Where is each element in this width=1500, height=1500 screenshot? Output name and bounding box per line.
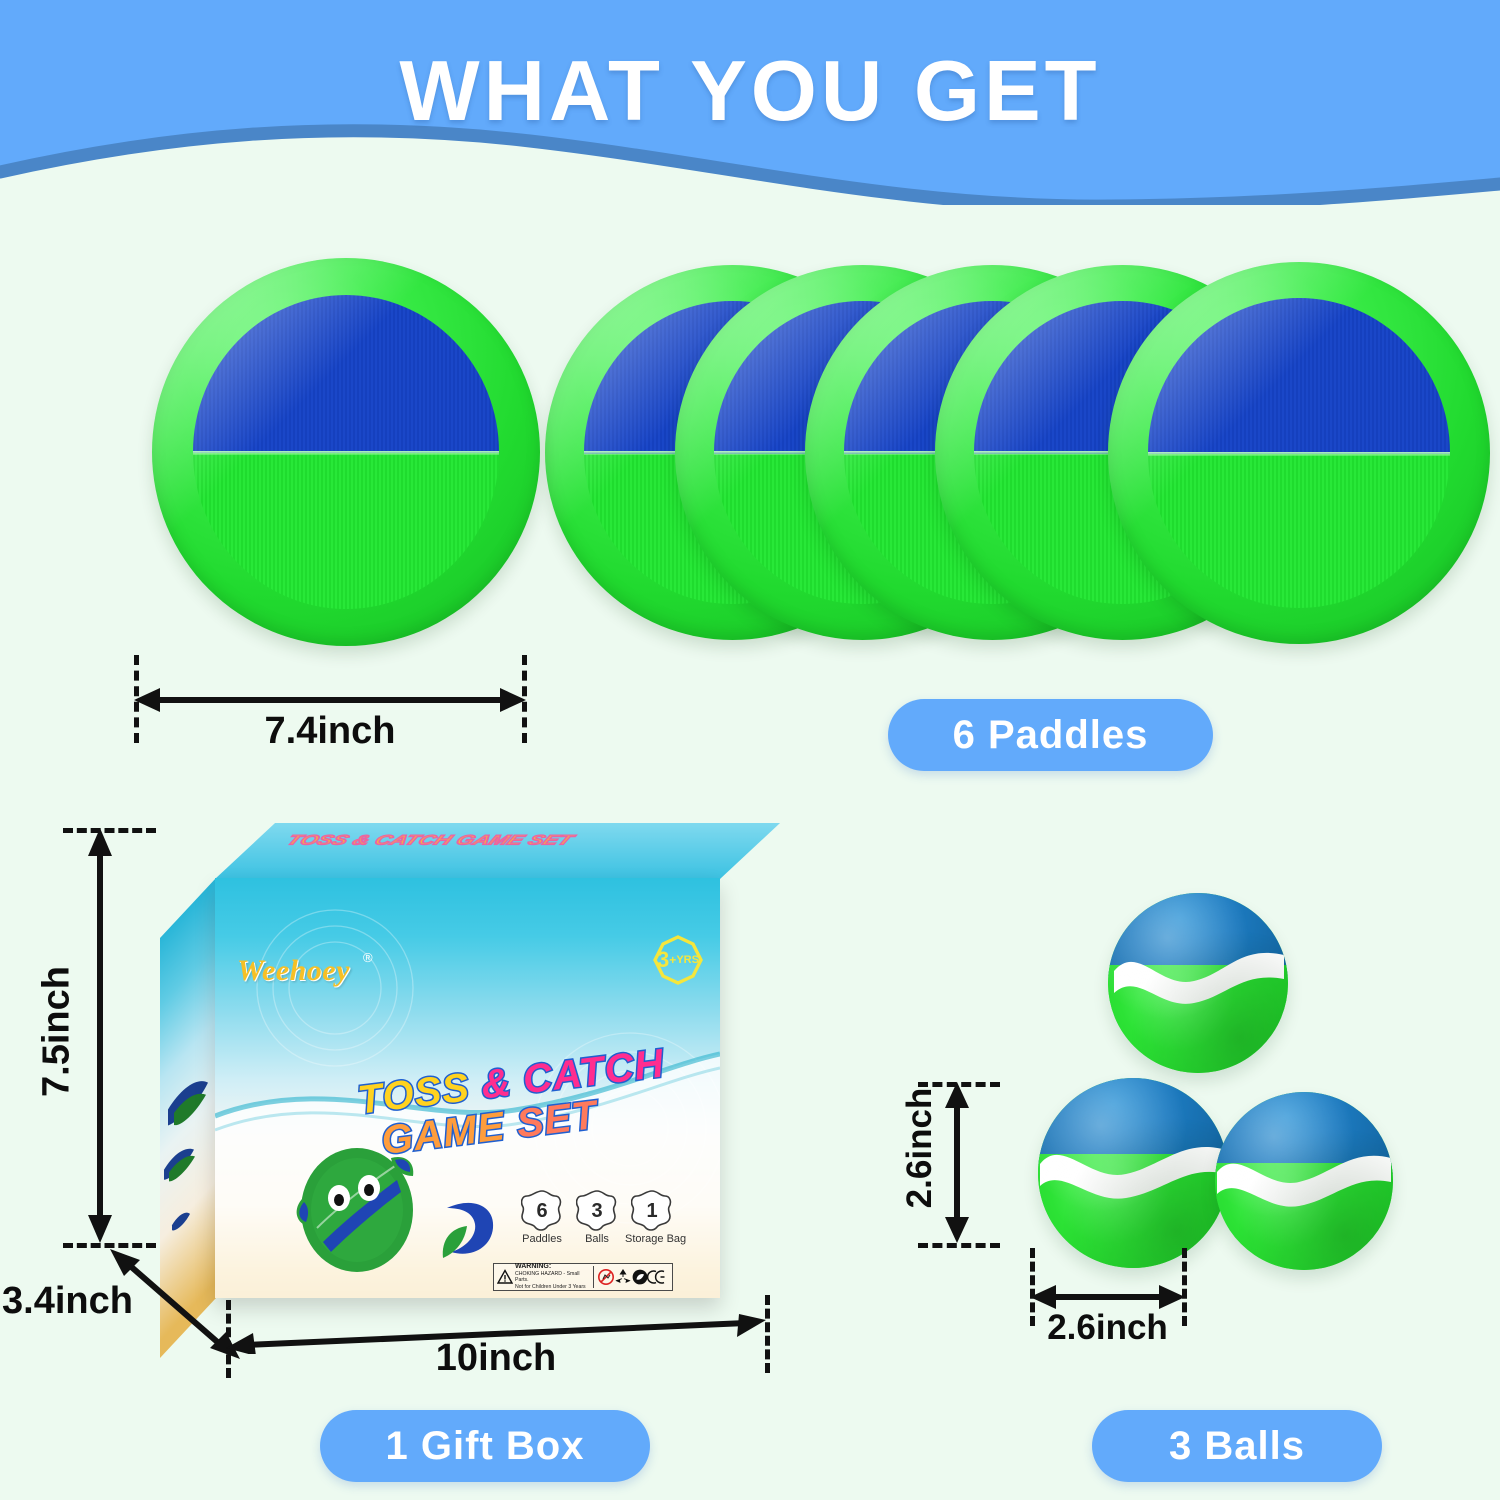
badge-6-paddles-label: 6 Paddles: [953, 713, 1149, 758]
ball-item[interactable]: [1038, 1078, 1228, 1268]
feature-paddles-count: 6: [521, 1190, 563, 1232]
feature-balls-label: Balls: [570, 1233, 624, 1245]
paddle-face-blue: [193, 295, 500, 453]
feature-paddles: 6 Paddles: [515, 1190, 569, 1245]
header-banner: WHAT YOU GET: [0, 0, 1500, 205]
paddle-face-green: [1148, 454, 1450, 607]
badge-1-gift-box: 1 Gift Box: [320, 1410, 650, 1482]
paddle-face-blue: [1148, 298, 1450, 454]
ball-shading: [1108, 893, 1288, 1073]
box-lid-title: TOSS & CATCH GAME SET: [283, 832, 576, 848]
page-title: WHAT YOU GET: [0, 44, 1500, 139]
box-mascot-paddle: [287, 1136, 427, 1276]
paddle-seam: [193, 451, 500, 455]
safety-icons: [593, 1266, 668, 1288]
paddle-face-green: [193, 453, 500, 609]
gift-box[interactable]: TOSS & CATCH GAME SET Weehoey ® 3+Y: [160, 823, 785, 1308]
box-height-label: 7.5inch: [36, 932, 79, 1132]
warning-line1: CHOKING HAZARD - Small Parts.: [515, 1271, 593, 1284]
box-brand-registered-mark: ®: [363, 950, 373, 965]
box-width-label: 10inch: [226, 1337, 766, 1380]
feature-balls: 3 Balls: [570, 1190, 624, 1245]
feature-storage-bag-label: Storage Bag: [625, 1233, 679, 1245]
age-badge-number: 3: [657, 947, 669, 973]
feature-balls-count: 3: [576, 1190, 618, 1232]
ball-item[interactable]: [1215, 1092, 1393, 1270]
ball-height-label: 2.6inch: [900, 1053, 940, 1243]
warning-line2: Not for Children Under 3 Years: [515, 1284, 593, 1291]
box-depth-label: 3.4inch: [2, 1280, 133, 1323]
ball-height-arrow: [942, 1082, 972, 1243]
ball-width-label: 2.6inch: [1005, 1308, 1210, 1348]
box-brand-logo: Weehoey: [237, 954, 350, 988]
age-badge-plus: +: [669, 953, 676, 967]
ball-width-arrow: [1030, 1283, 1185, 1311]
feature-paddles-label: Paddles: [515, 1233, 569, 1245]
paddle-item[interactable]: [1108, 262, 1490, 644]
ball-shading: [1215, 1092, 1393, 1270]
badge-6-paddles: 6 Paddles: [888, 699, 1213, 771]
ball-shading: [1038, 1078, 1228, 1268]
feature-storage-bag: 1 Storage Bag: [625, 1190, 679, 1245]
badge-1-gift-box-label: 1 Gift Box: [386, 1424, 585, 1469]
ball-item[interactable]: [1108, 893, 1288, 1073]
ball-dim-dash-bot: [918, 1243, 1000, 1248]
warning-label: WARNING: CHOKING HAZARD - Small Parts. N…: [493, 1263, 673, 1291]
warning-triangle-icon: [497, 1269, 513, 1285]
badge-3-balls-label: 3 Balls: [1169, 1424, 1305, 1469]
badge-3-balls: 3 Balls: [1092, 1410, 1382, 1482]
age-badge: 3+YRS: [652, 934, 704, 986]
paddle-seam: [1148, 452, 1450, 456]
box-swoosh-logo: [437, 1196, 499, 1268]
box-front-face: Weehoey ® 3+YRS TOSS & CATCH GAME SET: [215, 878, 720, 1298]
age-badge-unit: YRS: [676, 954, 699, 966]
warning-text: WARNING: CHOKING HAZARD - Small Parts. N…: [515, 1264, 593, 1290]
age-badge-text: 3+YRS: [652, 934, 704, 986]
paddle-dim-label: 7.4inch: [134, 710, 526, 753]
feature-storage-bag-count: 1: [631, 1190, 673, 1232]
paddle-item-measured[interactable]: [152, 258, 540, 646]
box-height-arrow: [84, 828, 116, 1243]
